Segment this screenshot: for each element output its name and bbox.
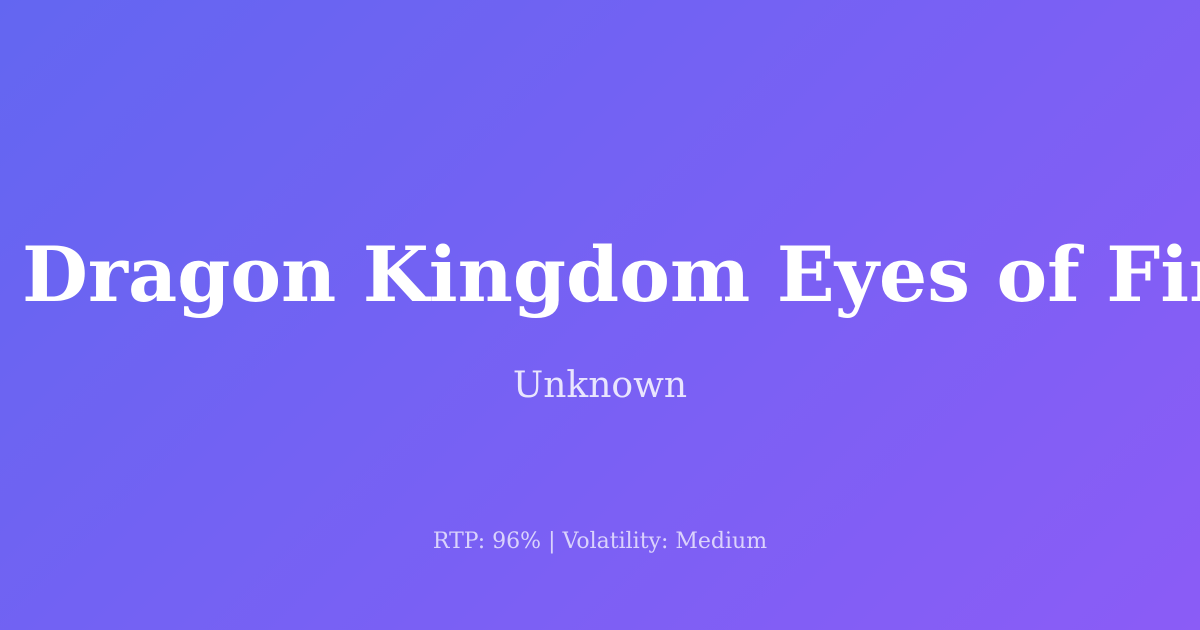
page-title: Dragon Kingdom Eyes of Fire <box>22 232 1200 318</box>
og-share-card: Dragon Kingdom Eyes of Fire Unknown RTP:… <box>0 0 1200 630</box>
game-provider-label: Unknown <box>0 363 1200 409</box>
game-stats-line: RTP: 96% | Volatility: Medium <box>0 526 1200 558</box>
